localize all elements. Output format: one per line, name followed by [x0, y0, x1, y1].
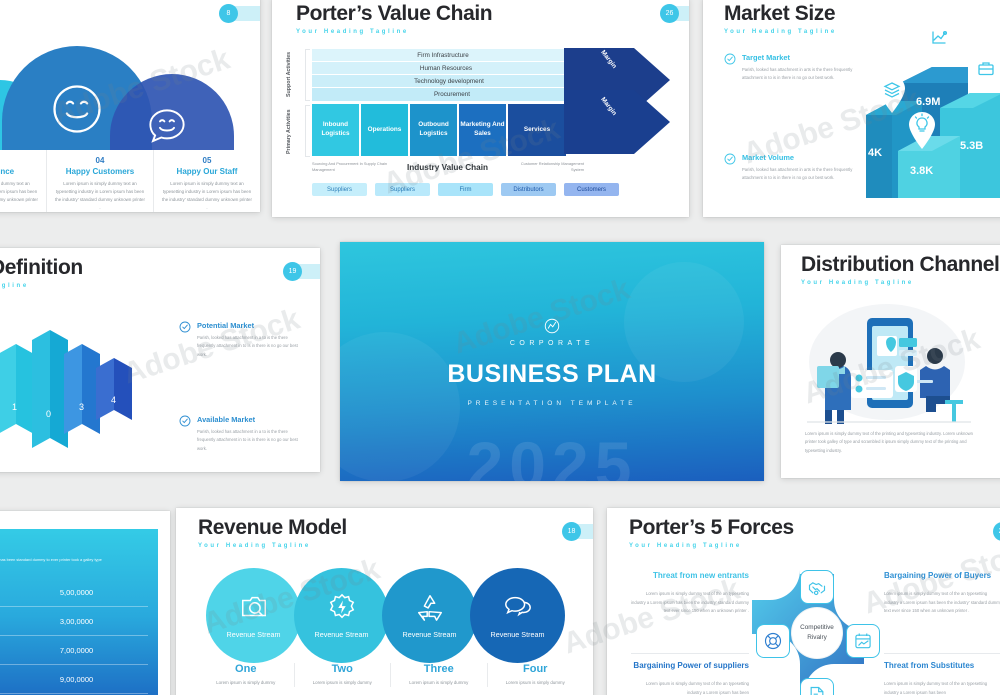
support-row[interactable]: Human Resources — [312, 62, 580, 74]
feature-column[interactable]: 04 Happy Customers Lorem ipsum is simply… — [46, 150, 153, 212]
page-title: Porter’s 5 Forces — [629, 516, 794, 540]
check-circle-icon — [179, 321, 191, 333]
people-mobile-illustration — [795, 300, 985, 430]
page-badge: 26 — [660, 4, 679, 23]
slide-revenue-model[interactable]: Revenue Model Your Heading Tagline 18 Re… — [176, 508, 593, 695]
feature-column[interactable]: 03 Prevalence Lorem ipsum is simply dumm… — [0, 150, 46, 212]
prism-label-1: 1 — [12, 402, 17, 412]
smiley-chat-icon — [146, 106, 188, 148]
market-block-volume[interactable]: Market Volume Parish, looked has attachm… — [724, 153, 864, 183]
revenue-caption[interactable]: Three Lorem ipsum is simply dummy — [390, 663, 487, 687]
brand-name: CORPORATE — [510, 340, 594, 347]
caption-name: One — [204, 663, 288, 675]
table-card: ert Text Here : ipsum is simply dummy te… — [0, 529, 158, 695]
distribution-paragraph: Lorem ipsum is simply dummy text of the … — [805, 430, 973, 455]
node-threat-new-entrants[interactable] — [800, 570, 834, 604]
line-chart-icon-pin — [923, 25, 955, 65]
feature-caption: Happy Our Staff — [162, 167, 252, 176]
chip-suppliers[interactable]: Suppliers — [375, 183, 430, 196]
force-block-bargaining-suppliers[interactable]: Bargaining Power of suppliers Lorem ipsu… — [631, 660, 749, 695]
table-subtext: ipsum is simply dummy text of the printi… — [0, 556, 136, 563]
force-heading: Threat from new entrants — [631, 570, 749, 581]
page-tagline: Tagline — [0, 283, 83, 289]
calendar-chart-icon — [853, 631, 873, 651]
force-heading: Bargaining Power of Buyers — [884, 570, 1000, 581]
slide-header: Porter’s 5 Forces Your Heading Tagline — [629, 516, 794, 549]
row-value: 9,00,0000 — [5, 675, 148, 684]
page-title: Distribution Channels — [801, 253, 1000, 277]
node-competitive-rivalry-bottom[interactable] — [800, 678, 834, 695]
feature-column[interactable]: 05 Happy Our Staff Lorem ipsum is simply… — [153, 150, 260, 212]
feature-number: 03 — [0, 156, 38, 165]
slide-financial-table[interactable]: ert Text Here : ipsum is simply dummy te… — [0, 511, 170, 695]
page-tagline: Your Heading Tagline — [629, 543, 794, 549]
primary-box[interactable]: Inbound Logistics — [312, 104, 359, 156]
revenue-caption[interactable]: Two Lorem ipsum is simply dummy — [294, 663, 391, 687]
page-tagline: Your Heading Tagline — [724, 29, 837, 35]
hero-title: BUSINESS PLAN — [447, 360, 656, 389]
margin-arrow-group — [564, 46, 672, 158]
revenue-stream-circles: Revenue Stream Revenue Stream Revenue St… — [206, 568, 566, 668]
page-badge: 18 — [562, 522, 581, 541]
photo-search-icon — [239, 592, 269, 622]
revenue-caption[interactable]: Four Lorem ipsum is simply dummy — [487, 663, 584, 687]
table-row[interactable]: - 20-2 5,00,0000 — [0, 579, 148, 607]
page-title: Definition — [0, 256, 83, 280]
page-title: Market Size — [724, 2, 837, 26]
energy-gear-icon — [327, 592, 357, 622]
node-threat-substitutes[interactable] — [846, 624, 880, 658]
page-title: Porter’s Value Chain — [296, 2, 492, 26]
market-block-body: Parish, looked has attachment in arts is… — [742, 166, 864, 183]
caption-body: Lorem ipsum is simply dummy — [494, 679, 578, 687]
caption-name: Two — [301, 663, 385, 675]
definition-right-block-available[interactable]: Available Market Parish, looked has atta… — [179, 415, 304, 453]
prism-label-4: 4 — [111, 395, 116, 405]
revenue-stream-circle[interactable]: Revenue Stream — [206, 568, 301, 663]
revenue-stream-label: Revenue Stream — [403, 630, 457, 639]
slide-header: Market Size Your Heading Tagline — [724, 2, 837, 35]
definition-right-block-potential[interactable]: Potential Market Parish, looked has atta… — [179, 321, 304, 359]
page-tagline: Your Heading Tagline — [296, 29, 492, 35]
hero-subtitle: PRESENTATION TEMPLATE — [467, 400, 636, 407]
page-badge: 19 — [283, 262, 302, 281]
slide-business-plan-cover[interactable]: 2025 CORPORATE BUSINESS PLAN PRESENTATIO… — [340, 242, 764, 481]
caption-body: Lorem ipsum is simply dummy — [204, 679, 288, 687]
axis-label-support: Support Activities — [286, 50, 300, 98]
lifebuoy-icon — [763, 631, 783, 651]
divider — [631, 653, 749, 654]
smiley-face-icon — [50, 82, 104, 136]
force-body: Lorem ipsum is simply dummy text of the … — [884, 680, 1000, 695]
revenue-stream-circle[interactable]: Revenue Stream — [382, 568, 477, 663]
force-heading: Bargaining Power of suppliers — [631, 660, 749, 671]
prism-bar-chart — [0, 326, 162, 466]
divider — [884, 653, 1000, 654]
node-bargaining-power-suppliers[interactable] — [756, 624, 790, 658]
revenue-stream-label: Revenue Stream — [315, 630, 369, 639]
table-row[interactable]: - 20-2 3,00,0000 — [0, 608, 148, 636]
revenue-captions: One Lorem ipsum is simply dummy Two Lore… — [198, 663, 583, 687]
force-heading: Threat from Substitutes — [884, 660, 1000, 671]
slide-happy-customers[interactable]: les 8 — [0, 0, 260, 212]
caption-body: Lorem ipsum is simply dummy — [301, 679, 385, 687]
slide-header: Definition Tagline — [0, 256, 83, 289]
check-circle-icon — [724, 53, 736, 65]
definition-chart: 2 1 0 3 4 — [0, 326, 162, 466]
chip-distributors[interactable]: Distributors — [501, 183, 556, 196]
slide-gallery: les 8 — [0, 0, 1000, 695]
industry-value-chain-label: Industry Value Chain — [407, 163, 488, 172]
chat-bubbles-icon — [503, 592, 533, 622]
right-block-heading: Potential Market — [197, 321, 304, 330]
revenue-stream-label: Revenue Stream — [227, 630, 281, 639]
table-row[interactable]: - 20 7,00,0000 — [0, 637, 148, 665]
handshake-icon — [807, 577, 827, 597]
market-block-body: Parish, looked has attachment in arts is… — [742, 66, 864, 83]
row-value: 7,00,0000 — [5, 646, 148, 655]
feature-caption: Happy Customers — [55, 167, 145, 176]
center-node[interactable]: Competitive Rivalry — [791, 607, 843, 659]
feature-number: 05 — [162, 156, 252, 165]
layers-icon-pin — [876, 75, 908, 115]
lightbulb-icon-pin — [906, 111, 938, 151]
right-block-body: Parish, looked has attachment in a to is… — [197, 428, 304, 453]
revenue-stream-circle[interactable]: Revenue Stream — [294, 568, 389, 663]
chip-suppliers[interactable]: Suppliers — [312, 183, 367, 196]
bar-value-4k: 4K — [868, 147, 882, 159]
force-block-threat-substitutes[interactable]: Threat from Substitutes Lorem ipsum is s… — [884, 660, 1000, 695]
force-block-bargaining-buyers[interactable]: Bargaining Power of Buyers Lorem ipsum i… — [884, 570, 1000, 615]
badge-number: 18 — [562, 522, 581, 541]
slide-definition[interactable]: Definition Tagline 19 rket ent in arts i… — [0, 248, 320, 472]
revenue-caption[interactable]: One Lorem ipsum is simply dummy — [198, 663, 294, 687]
slide-distribution-channels[interactable]: Distribution Channels Your Heading Tagli… — [781, 245, 1000, 478]
bracket-support — [305, 49, 310, 101]
monogram-icon — [543, 317, 561, 335]
market-size-chart: 4K 6.9M 3.8K 5.3B — [848, 23, 1000, 213]
market-block-target[interactable]: Target Market Parish, looked has attachm… — [724, 53, 864, 83]
prism-label-0: 0 — [46, 409, 51, 419]
check-circle-icon — [724, 153, 736, 165]
slide-header: Revenue Model Your Heading Tagline — [198, 516, 347, 549]
page-tagline: Your Heading Tagline — [801, 280, 1000, 286]
row-value: 5,00,0000 — [5, 588, 148, 597]
support-row[interactable]: Technology development — [312, 75, 586, 87]
caption-name: Four — [494, 663, 578, 675]
slide-header: Distribution Channels Your Heading Tagli… — [801, 253, 1000, 286]
axis-label-primary: Primary Activities — [286, 108, 300, 156]
right-block-body: Parish, looked has attachment in a to is… — [197, 334, 304, 359]
right-block-heading: Available Market — [197, 415, 304, 424]
primary-box[interactable]: Marketing And Sales — [459, 104, 506, 156]
bracket-primary — [305, 105, 310, 157]
hero-content: CORPORATE BUSINESS PLAN PRESENTATION TEM… — [340, 242, 764, 481]
bar-value-69m: 6.9M — [916, 96, 940, 108]
page-badge: 8 — [219, 4, 238, 23]
caption-body: Lorem ipsum is simply dummy — [397, 679, 481, 687]
row-value: 3,00,0000 — [5, 617, 148, 626]
primary-box[interactable]: Services — [508, 104, 566, 156]
feature-number: 04 — [55, 156, 145, 165]
slide-market-size[interactable]: Market Size Your Heading Tagline Target … — [703, 0, 1000, 217]
arc-graphic-group — [0, 34, 260, 150]
badge-number: 26 — [660, 4, 679, 23]
badge-number: 27 — [993, 522, 1000, 541]
page-badge: 27 — [993, 522, 1000, 541]
bar-value-53b: 5.3B — [960, 140, 983, 152]
revenue-stream-circle[interactable]: Revenue Stream — [470, 568, 565, 663]
recycle-icon — [415, 592, 445, 622]
revenue-stream-label: Revenue Stream — [491, 630, 545, 639]
chip-customers[interactable]: Customers — [564, 183, 619, 196]
market-block-heading: Target Market — [742, 53, 864, 62]
briefcase-icon-pin — [970, 55, 1000, 95]
bar-value-38k: 3.8K — [910, 165, 933, 177]
primary-box[interactable]: Outbound Logistics — [410, 104, 457, 156]
caption-name: Three — [397, 663, 481, 675]
force-body: Lorem ipsum is simply dummy text of the … — [631, 590, 749, 615]
slide-porters-value-chain[interactable]: Porter’s Value Chain Your Heading Taglin… — [272, 0, 689, 217]
market-block-heading: Market Volume — [742, 153, 864, 162]
feature-body: Lorem ipsum is simply dummy text an type… — [162, 180, 252, 212]
check-circle-icon — [179, 415, 191, 427]
badge-number: 8 — [219, 4, 238, 23]
badge-number: 19 — [283, 262, 302, 281]
invoice-dollar-icon — [807, 685, 827, 695]
force-body: Lorem ipsum is simply dummy text of the … — [631, 680, 749, 695]
primary-box[interactable]: Operations — [361, 104, 408, 156]
note-left: Sourcing And Procurement In Supply Chain… — [312, 161, 390, 173]
feature-body: Lorem ipsum is simply dummy text an type… — [55, 180, 145, 212]
force-body: Lorem ipsum is simply dummy text of the … — [884, 590, 1000, 615]
force-block-threat-new-entrants[interactable]: Threat from new entrants Lorem ipsum is … — [631, 570, 749, 615]
prism-label-3: 3 — [79, 402, 84, 412]
center-label: Competitive Rivalry — [792, 623, 842, 642]
support-row[interactable]: Firm Infrastructure — [312, 49, 574, 61]
chip-firm[interactable]: Firm — [438, 183, 493, 196]
slide-header: Porter’s Value Chain Your Heading Taglin… — [296, 2, 492, 35]
feature-columns: 03 Prevalence Lorem ipsum is simply dumm… — [0, 150, 260, 212]
feature-body: Lorem ipsum is simply dummy text an type… — [0, 180, 38, 212]
table-row[interactable]: - 20- 9,00,0000 — [0, 666, 148, 694]
slide-porters-5-forces[interactable]: Porter’s 5 Forces Your Heading Tagline 2… — [607, 508, 1000, 695]
support-row[interactable]: Procurement — [312, 88, 592, 101]
note-right: Customer Relationship Management System — [510, 161, 584, 173]
feature-caption: Prevalence — [0, 167, 38, 176]
page-tagline: Your Heading Tagline — [198, 543, 347, 549]
page-title: Revenue Model — [198, 516, 347, 540]
